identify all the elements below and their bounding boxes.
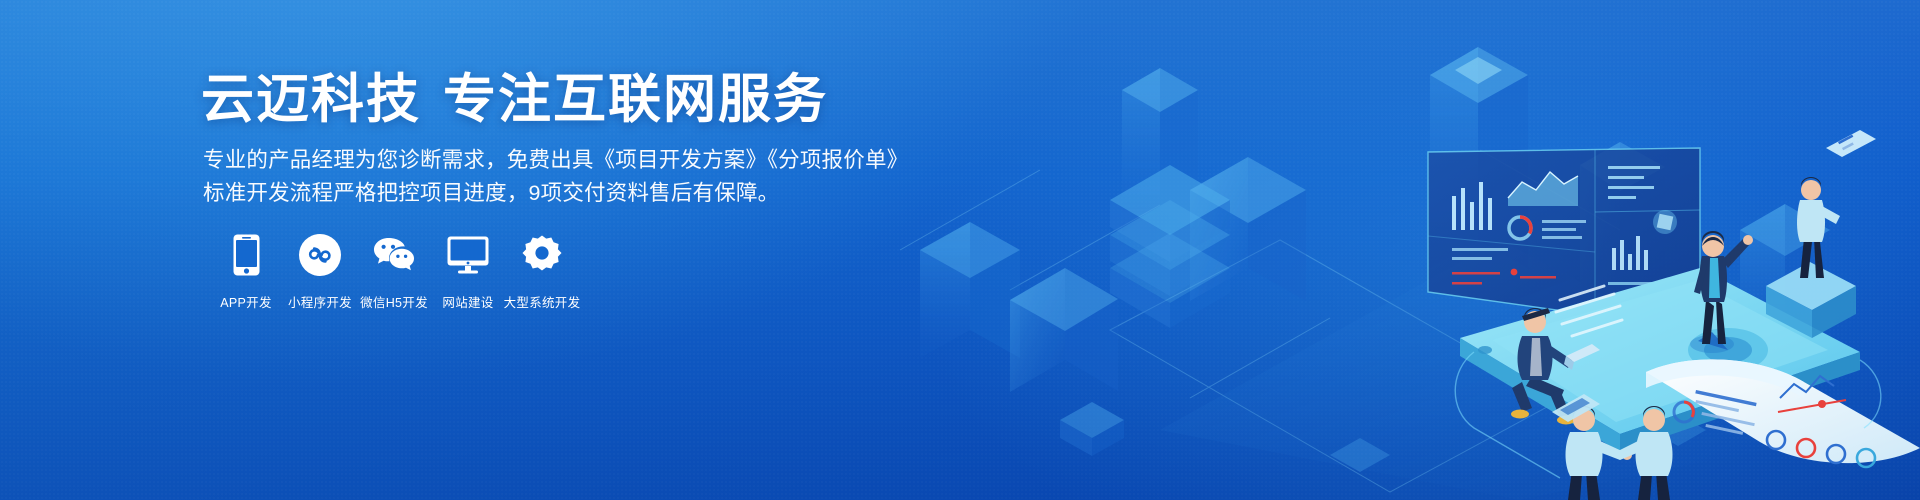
service-item-app[interactable]: APP开发 xyxy=(209,232,283,311)
service-label-miniprogram: 小程序开发 xyxy=(288,292,352,311)
promo-banner: 云迈科技专注互联网服务 专业的产品经理为您诊断需求，免费出具《项目开发方案》《分… xyxy=(0,0,1920,500)
wechat-icon xyxy=(371,232,417,278)
subtitle-line-1: 专业的产品经理为您诊断需求，免费出具《项目开发方案》《分项报价单》 xyxy=(203,144,903,177)
service-item-large-system[interactable]: 大型系统开发 xyxy=(505,232,579,311)
service-list: APP开发 小程序开发 xyxy=(209,232,579,311)
isometric-tech-illustration xyxy=(860,0,1920,500)
banner-content: 云迈科技专注互联网服务 专业的产品经理为您诊断需求，免费出具《项目开发方案》《分… xyxy=(201,0,941,500)
monitor-icon xyxy=(445,232,491,278)
service-label-app: APP开发 xyxy=(220,292,272,311)
page-title: 云迈科技专注互联网服务 xyxy=(201,71,828,129)
service-label-website: 网站建设 xyxy=(442,292,493,311)
service-item-miniprogram[interactable]: 小程序开发 xyxy=(283,232,357,311)
mobile-phone-icon xyxy=(223,232,269,278)
headline-tagline: 专注互联网服务 xyxy=(443,70,828,129)
service-item-website[interactable]: 网站建设 xyxy=(431,232,505,311)
gear-icon xyxy=(519,232,565,278)
headline-brand: 云迈科技 xyxy=(201,70,421,129)
subtitle-line-2: 标准开发流程严格把控项目进度，9项交付资料售后有保障。 xyxy=(203,177,903,210)
service-label-wechat-h5: 微信H5开发 xyxy=(360,292,428,311)
mini-program-icon xyxy=(297,232,343,278)
banner-subtitle: 专业的产品经理为您诊断需求，免费出具《项目开发方案》《分项报价单》 标准开发流程… xyxy=(203,144,903,210)
service-item-wechat-h5[interactable]: 微信H5开发 xyxy=(357,232,431,311)
service-label-large-system: 大型系统开发 xyxy=(504,292,581,311)
